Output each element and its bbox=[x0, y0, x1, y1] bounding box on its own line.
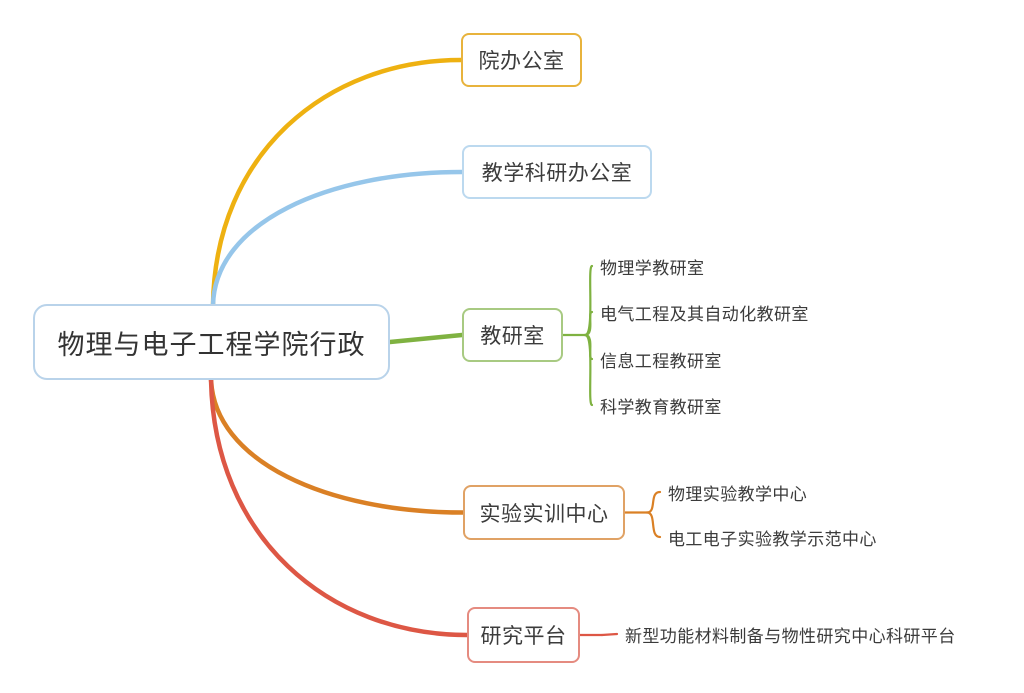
edge-connector bbox=[211, 378, 467, 635]
edge-connector bbox=[211, 378, 463, 513]
branch-yan-jiu-ping-tai-label: 研究平台 bbox=[481, 620, 567, 650]
edge-connector bbox=[213, 172, 462, 305]
leaf-ke-xue-jiao-yu-jiao-yan-shi[interactable]: 科学教育教研室 bbox=[600, 392, 722, 418]
edge-connector bbox=[602, 634, 617, 635]
edge-connector bbox=[647, 492, 660, 513]
edge-connector bbox=[585, 335, 592, 359]
leaf-dian-gong-dian-zi-shi-yan-jiao-xue-shi-fan-zhong-xin[interactable]: 电工电子实验教学示范中心 bbox=[668, 524, 877, 550]
edge-connector bbox=[585, 312, 592, 335]
branch-shi-yan-shi-xun-zhong-xin[interactable]: 实验实训中心 bbox=[463, 485, 625, 540]
leaf-xin-xing-gong-neng-cai-liao-ke-yan-ping-tai[interactable]: 新型功能材料制备与物性研究中心科研平台 bbox=[625, 621, 956, 647]
edge-connector bbox=[213, 60, 461, 305]
edge-connector bbox=[390, 335, 462, 342]
leaf-wu-li-shi-yan-jiao-xue-zhong-xin[interactable]: 物理实验教学中心 bbox=[668, 479, 807, 505]
leaf-xin-xi-gong-cheng-jiao-yan-shi-text: 信息工程教研室 bbox=[600, 347, 722, 372]
root-node-label: 物理与电子工程学院行政 bbox=[58, 323, 366, 362]
branch-jiao-yan-shi-label: 教研室 bbox=[480, 320, 545, 350]
branch-jiao-xue-ke-yan-ban-gong-shi-label: 教学科研办公室 bbox=[482, 157, 633, 187]
edge-connector bbox=[647, 513, 660, 538]
leaf-dian-gong-dian-zi-shi-yan-jiao-xue-shi-fan-zhong-xin-text: 电工电子实验教学示范中心 bbox=[668, 525, 877, 550]
edge-connector bbox=[585, 335, 592, 405]
root-node[interactable]: 物理与电子工程学院行政 bbox=[33, 304, 390, 380]
leaf-ke-xue-jiao-yu-jiao-yan-shi-text: 科学教育教研室 bbox=[600, 393, 722, 418]
leaf-wu-li-xue-jiao-yan-shi[interactable]: 物理学教研室 bbox=[600, 253, 704, 279]
branch-jiao-xue-ke-yan-ban-gong-shi[interactable]: 教学科研办公室 bbox=[462, 145, 652, 199]
leaf-xin-xi-gong-cheng-jiao-yan-shi[interactable]: 信息工程教研室 bbox=[600, 346, 722, 372]
branch-shi-yan-shi-xun-zhong-xin-label: 实验实训中心 bbox=[480, 498, 609, 528]
edge-connector bbox=[585, 266, 592, 335]
mindmap-canvas: 物理与电子工程学院行政院办公室教学科研办公室教研室物理学教研室电气工程及其自动化… bbox=[0, 0, 1024, 693]
branch-jiao-yan-shi[interactable]: 教研室 bbox=[462, 308, 563, 362]
leaf-wu-li-shi-yan-jiao-xue-zhong-xin-text: 物理实验教学中心 bbox=[668, 480, 807, 505]
leaf-dian-qi-gong-cheng-jiao-yan-shi[interactable]: 电气工程及其自动化教研室 bbox=[600, 299, 809, 325]
branch-yan-jiu-ping-tai[interactable]: 研究平台 bbox=[467, 607, 580, 663]
branch-yuan-ban-gong-shi[interactable]: 院办公室 bbox=[461, 33, 582, 87]
leaf-wu-li-xue-jiao-yan-shi-text: 物理学教研室 bbox=[600, 254, 704, 279]
branch-yuan-ban-gong-shi-label: 院办公室 bbox=[479, 45, 565, 75]
leaf-dian-qi-gong-cheng-jiao-yan-shi-text: 电气工程及其自动化教研室 bbox=[600, 300, 809, 325]
leaf-xin-xing-gong-neng-cai-liao-ke-yan-ping-tai-text: 新型功能材料制备与物性研究中心科研平台 bbox=[625, 622, 956, 647]
